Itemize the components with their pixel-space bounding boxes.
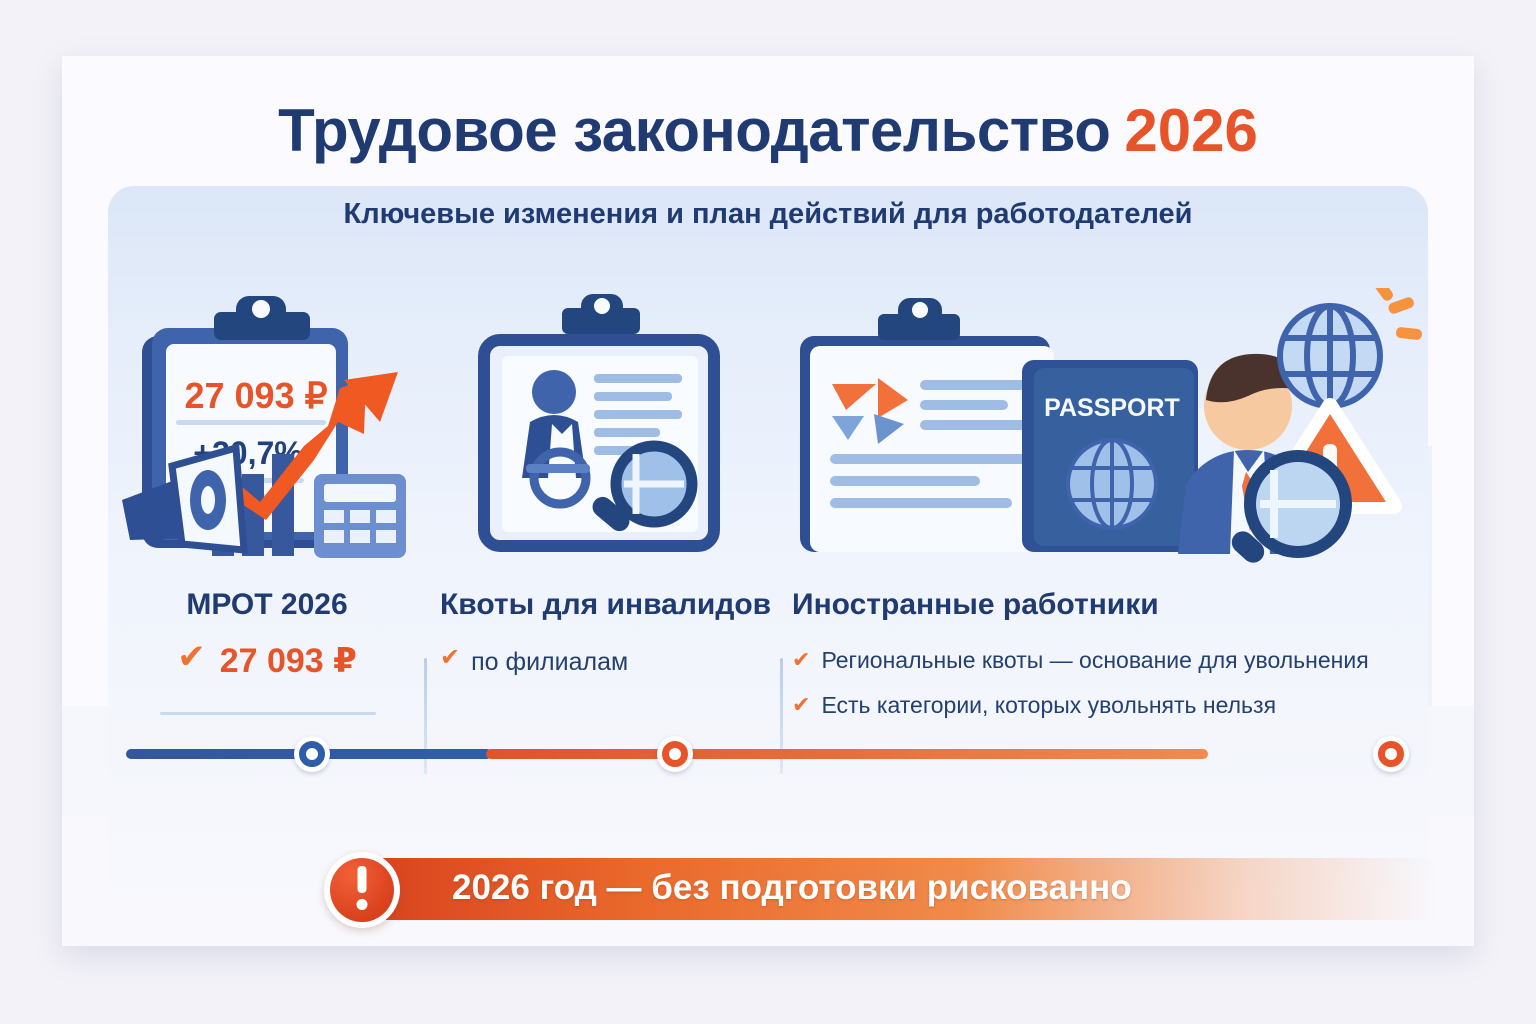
list-item-label: 27 093 ₽ — [220, 640, 357, 684]
timeline-node-mid[interactable] — [657, 736, 693, 772]
globe-icon — [1280, 288, 1422, 406]
list-item-label: по филиалам — [471, 646, 628, 678]
check-icon: ✔ — [792, 694, 810, 716]
check-icon: ✔ — [177, 640, 206, 674]
quotas-art-svg — [426, 288, 782, 578]
column-bullets-foreign: ✔ Региональные квоты — основание для уво… — [792, 646, 1428, 737]
column-mrot: 27 093 ₽ +20,7% — [108, 288, 426, 768]
underline-rule — [160, 712, 376, 715]
column-title-foreign: Иностранные работники — [792, 588, 1159, 622]
poster-stage: Трудовое законодательство2026 Ключевые и… — [0, 0, 1536, 1024]
page-title-main: Трудовое законодательство — [278, 97, 1110, 164]
megaphone-icon — [122, 448, 244, 550]
check-icon: ✔ — [792, 649, 810, 671]
check-icon: ✔ — [440, 646, 460, 670]
page-title: Трудовое законодательство2026 — [62, 96, 1474, 165]
page-title-year: 2026 — [1124, 97, 1257, 164]
list-item: ✔ по филиалам — [440, 646, 782, 678]
foreign-workers-illustration: PASSPORT — [782, 288, 1428, 578]
list-item: ✔ 27 093 ₽ — [108, 640, 426, 684]
column-title-mrot: МРОТ 2026 — [108, 588, 426, 622]
list-item-label: Есть категории, которых увольнять нельзя — [821, 691, 1276, 720]
list-item: ✔ Региональные квоты — основание для уво… — [792, 646, 1392, 675]
passport-icon: PASSPORT — [1022, 360, 1198, 552]
timeline-node-start[interactable] — [294, 736, 330, 772]
column-disability-quotas: Квоты для инвалидов ✔ по филиалам — [426, 288, 782, 768]
timeline-node-end[interactable] — [1373, 736, 1409, 772]
list-item: ✔ Есть категории, которых увольнять нель… — [792, 691, 1392, 720]
foreign-art-svg: PASSPORT — [782, 288, 1428, 578]
timeline — [108, 728, 1428, 780]
timeline-segment-orange — [486, 749, 1208, 759]
column-bullets-quotas: ✔ по филиалам — [440, 646, 782, 694]
mrot-illustration: 27 093 ₽ +20,7% — [108, 288, 426, 578]
list-item-label: Региональные квоты — основание для уволь… — [821, 646, 1368, 675]
page-subtitle: Ключевые изменения и план действий для р… — [62, 198, 1474, 231]
warning-banner-text: 2026 год — без подготовки рискованно — [452, 868, 1416, 908]
columns-container: 27 093 ₽ +20,7% — [108, 288, 1428, 768]
passport-label: PASSPORT — [1044, 394, 1180, 422]
calculator-icon — [314, 474, 406, 558]
alert-exclamation-icon — [324, 852, 400, 928]
poster-card: Трудовое законодательство2026 Ключевые и… — [62, 56, 1474, 946]
mrot-art-svg: 27 093 ₽ +20,7% — [108, 288, 426, 578]
quotas-illustration — [426, 288, 782, 578]
column-bullets-mrot: ✔ 27 093 ₽ — [108, 640, 426, 700]
mrot-art-amount: 27 093 ₽ — [184, 375, 327, 416]
warning-banner: 2026 год — без подготовки рискованно — [324, 852, 1436, 926]
column-foreign-workers: PASSPORT — [782, 288, 1428, 768]
column-title-quotas: Квоты для инвалидов — [440, 588, 771, 622]
